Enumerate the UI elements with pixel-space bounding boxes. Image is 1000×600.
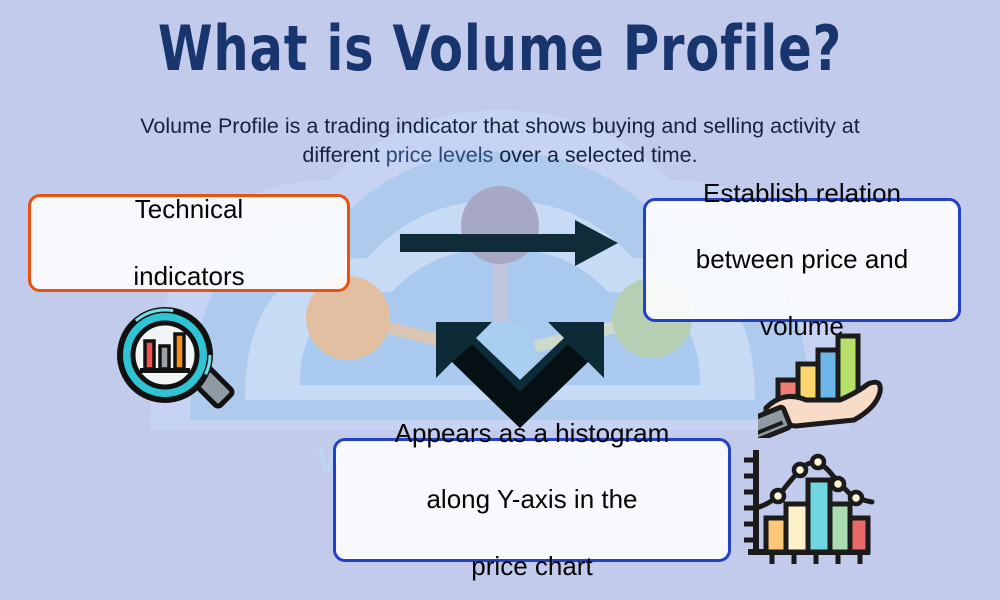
relation-line-2: between price and: [646, 243, 958, 276]
technical-line-1: Technical: [31, 193, 347, 226]
concept-box-technical-indicators-text: Technical indicators: [31, 193, 347, 293]
concept-box-histogram-text: Appears as a histogram along Y-axis in t…: [336, 417, 728, 583]
technical-line-2: indicators: [31, 260, 347, 293]
concept-box-technical-indicators[interactable]: Technical indicators: [28, 194, 350, 292]
right-arrow-icon: [400, 218, 620, 268]
infographic-canvas: www.truedata.in What is Volume Profile? …: [0, 0, 1000, 600]
relation-line-1: Establish relation: [646, 177, 958, 210]
page-title: What is Volume Profile?: [100, 18, 900, 80]
hand-holding-bar-chart-icon: [758, 330, 890, 438]
histogram-bell-curve-icon: [742, 442, 876, 568]
magnifier-bar-chart-icon: [112, 306, 242, 420]
histogram-line-2: along Y-axis in the: [336, 483, 728, 516]
page-subtitle: Volume Profile is a trading indicator th…: [130, 112, 870, 169]
subtitle-highlight-price-levels: price levels: [386, 143, 494, 167]
split-down-arrow-icon: [432, 320, 608, 430]
concept-box-establish-relation-text: Establish relation between price and vol…: [646, 177, 958, 343]
concept-box-histogram[interactable]: Appears as a histogram along Y-axis in t…: [333, 438, 731, 562]
concept-box-establish-relation[interactable]: Establish relation between price and vol…: [643, 198, 961, 322]
subtitle-line-2-part-c: over a selected time.: [493, 143, 697, 167]
histogram-line-1: Appears as a histogram: [336, 417, 728, 450]
histogram-line-3: price chart: [336, 550, 728, 583]
subtitle-line-1: Volume Profile is a trading indicator th…: [140, 114, 764, 138]
